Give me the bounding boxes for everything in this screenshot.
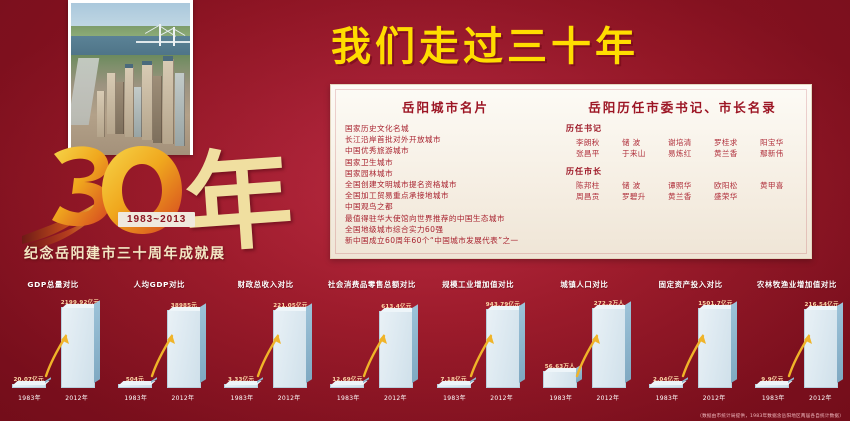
leader-name: 周昌贡 (576, 191, 622, 202)
chart-8: 农林牧渔业增加值对比9.9亿元1983年216.54亿元2012年 (744, 276, 850, 408)
city-card-item: 中国优秀旅游城市 (345, 145, 546, 156)
leader-name: 于来山 (622, 148, 668, 159)
chart-4: 社会消费品零售总额对比12.69亿元1983年613.4亿元2012年 (319, 276, 425, 408)
years-badge: 1983~2013 (118, 212, 195, 227)
logo-30-svg (18, 140, 208, 255)
chart-x-tick-label: 1983年 (327, 393, 370, 402)
chart-title: 固定资产投入对比 (638, 279, 744, 290)
chart-bar-group: 3.33亿元 (224, 384, 258, 388)
growth-arrow-icon (787, 330, 813, 378)
chart-bar-group: 7.18亿元 (437, 384, 471, 388)
chart-bar (437, 384, 471, 388)
info-panel: 岳阳城市名片 国家历史文化名城长江沿岸首批对外开放城市中国优秀旅游城市国家卫生城… (330, 84, 812, 259)
leader-name: 储 波 (622, 137, 668, 148)
chart-x-tick-label: 1983年 (114, 393, 157, 402)
chart-plot-area: 2.04亿元1983年1501.7亿元2012年 (644, 296, 738, 404)
chart-1: GDP总量对比20.07亿元1983年2199.92亿元2012年 (0, 276, 106, 408)
chart-plot-area: 3.33亿元1983年221.05亿元2012年 (219, 296, 313, 404)
leader-name: 黄甲喜 (760, 180, 806, 191)
poster-root: 1983~2013 年 纪念岳阳建市三十周年成就展 我们走过三十年 岳阳城市名片… (0, 0, 850, 421)
leaders-name-row: 周昌贡罗碧升黄兰香盛荣华 (576, 191, 801, 202)
chart-x-tick-label: 2012年 (374, 393, 417, 402)
chart-5: 规模工业增加值对比7.18亿元1983年943.79亿元2012年 (425, 276, 531, 408)
chart-3: 财政总收入对比3.33亿元1983年221.05亿元2012年 (213, 276, 319, 408)
leaders-list: 历任书记李朗秋储 波谢培清罗桂求阳宝华张昌平于来山易炼红黄兰香鄢新伟历任市长陈邦… (564, 123, 801, 203)
chart-x-tick-label: 1983年 (645, 393, 688, 402)
chart-bar (755, 384, 789, 388)
chart-x-tick-label: 2012年 (480, 393, 523, 402)
bridge-icon (136, 24, 190, 51)
page-title: 我们走过三十年 (305, 24, 665, 70)
data-source-footnote: （数据由市统计局提供，1983年数据含岳阳地区两届各自统计数据） (697, 413, 844, 419)
city-card-item: 长江沿岸首批对外开放城市 (345, 134, 546, 145)
chart-x-tick-label: 2012年 (799, 393, 842, 402)
growth-arrow-icon (44, 330, 70, 378)
chart-x-tick-label: 1983年 (752, 393, 795, 402)
city-card-item: 全国地级城市综合实力60强 (345, 224, 546, 235)
leader-name: 李朗秋 (576, 137, 622, 148)
chart-bar-group: 20.07亿元 (12, 384, 46, 388)
leaders-group-label: 历任市长 (566, 166, 801, 177)
chart-plot-area: 7.18亿元1983年943.79亿元2012年 (431, 296, 525, 404)
chart-x-tick-label: 1983年 (539, 393, 582, 402)
chart-bar-group: 12.69亿元 (330, 384, 364, 388)
leader-name: 阳宝华 (760, 137, 806, 148)
leader-name: 易炼红 (668, 148, 714, 159)
leaders-group-label: 历任书记 (566, 123, 801, 134)
leader-name: 黄兰香 (668, 191, 714, 202)
chart-bar (330, 384, 364, 388)
city-card-item: 全国加工贸易重点承接地城市 (345, 190, 546, 201)
leader-name: 罗桂求 (714, 137, 760, 148)
chart-x-tick-label: 2012年 (586, 393, 629, 402)
statistics-chart-strip: GDP总量对比20.07亿元1983年2199.92亿元2012年人均GDP对比… (0, 276, 850, 408)
chart-title: 社会消费品零售总额对比 (319, 279, 425, 290)
chart-title: 财政总收入对比 (213, 279, 319, 290)
leaders-column: 岳阳历任市委书记、市长名录 历任书记李朗秋储 波谢培清罗桂求阳宝华张昌平于来山易… (556, 85, 811, 258)
chart-x-tick-label: 2012年 (161, 393, 204, 402)
chart-title: 农林牧渔业增加值对比 (744, 279, 850, 290)
leaders-name-row: 李朗秋储 波谢培清罗桂求阳宝华 (576, 137, 801, 148)
chart-bar-group: 504元 (118, 384, 152, 388)
leader-name: 罗碧升 (622, 191, 668, 202)
chart-bar-group: 56.63万人 (543, 371, 577, 388)
chart-plot-area: 12.69亿元1983年613.4亿元2012年 (325, 296, 419, 404)
leader-name: 张昌平 (576, 148, 622, 159)
chart-bar-group: 9.9亿元 (755, 384, 789, 388)
city-cards-heading: 岳阳城市名片 (345, 97, 546, 116)
chart-x-tick-label: 2012年 (693, 393, 736, 402)
leader-name: 黄兰香 (714, 148, 760, 159)
anniversary-30-logo (18, 140, 208, 255)
city-card-item: 全国创建文明城市提名资格城市 (345, 179, 546, 190)
city-cards-list: 国家历史文化名城长江沿岸首批对外开放城市中国优秀旅游城市国家卫生城市国家园林城市… (345, 123, 546, 246)
growth-arrow-icon (150, 330, 176, 378)
city-photo (68, 0, 193, 155)
chart-6: 城镇人口对比56.63万人1983年272.2万人2012年 (531, 276, 637, 408)
growth-arrow-icon (469, 330, 495, 378)
leader-name: 谭照华 (668, 180, 714, 191)
chart-title: GDP总量对比 (0, 279, 106, 290)
chart-plot-area: 56.63万人1983年272.2万人2012年 (537, 296, 631, 404)
leader-name: 陈邦柱 (576, 180, 622, 191)
chart-plot-area: 9.9亿元1983年216.54亿元2012年 (750, 296, 844, 404)
city-cards-column: 岳阳城市名片 国家历史文化名城长江沿岸首批对外开放城市中国优秀旅游城市国家卫生城… (331, 85, 556, 258)
city-card-item: 国家园林城市 (345, 168, 546, 179)
leader-name: 盛荣华 (714, 191, 760, 202)
growth-arrow-icon (575, 330, 601, 378)
chart-2: 人均GDP对比504元1983年38985元2012年 (106, 276, 212, 408)
chart-bar-group: 2.04亿元 (649, 384, 683, 388)
leader-name: 储 波 (622, 180, 668, 191)
leader-name: 鄢新伟 (760, 148, 806, 159)
chart-x-tick-label: 1983年 (8, 393, 51, 402)
chart-x-tick-label: 1983年 (433, 393, 476, 402)
leaders-heading: 岳阳历任市委书记、市长名录 (564, 97, 801, 116)
growth-arrow-icon (256, 330, 282, 378)
chart-plot-area: 20.07亿元1983年2199.92亿元2012年 (6, 296, 100, 404)
leaders-name-row: 陈邦柱储 波谭照华欧阳松黄甲喜 (576, 180, 801, 191)
chart-x-tick-label: 2012年 (268, 393, 311, 402)
growth-arrow-icon (681, 330, 707, 378)
chart-title: 规模工业增加值对比 (425, 279, 531, 290)
chart-x-tick-label: 2012年 (55, 393, 98, 402)
leaders-name-row: 张昌平于来山易炼红黄兰香鄢新伟 (576, 148, 801, 159)
city-photo-image (71, 3, 190, 155)
city-card-item: 新中国成立60周年60个“中国城市发展代表”之一 (345, 235, 546, 246)
chart-bar (649, 384, 683, 388)
leader-name: 谢培清 (668, 137, 714, 148)
city-card-item: 最值得驻华大使馆向世界推荐的中国生态城市 (345, 213, 546, 224)
poster-tagline: 纪念岳阳建市三十周年成就展 (24, 243, 226, 263)
city-card-item: 中国观鸟之都 (345, 201, 546, 212)
chart-bar (118, 384, 152, 388)
city-card-item: 国家历史文化名城 (345, 123, 546, 134)
chart-plot-area: 504元1983年38985元2012年 (112, 296, 206, 404)
chart-x-tick-label: 1983年 (220, 393, 263, 402)
chart-bar (224, 384, 258, 388)
chart-7: 固定资产投入对比2.04亿元1983年1501.7亿元2012年 (638, 276, 744, 408)
chart-title: 城镇人口对比 (531, 279, 637, 290)
chart-title: 人均GDP对比 (106, 279, 212, 290)
chart-bar (12, 384, 46, 388)
leader-name: 欧阳松 (714, 180, 760, 191)
chart-bar (543, 371, 577, 388)
city-card-item: 国家卫生城市 (345, 157, 546, 168)
growth-arrow-icon (362, 330, 388, 378)
